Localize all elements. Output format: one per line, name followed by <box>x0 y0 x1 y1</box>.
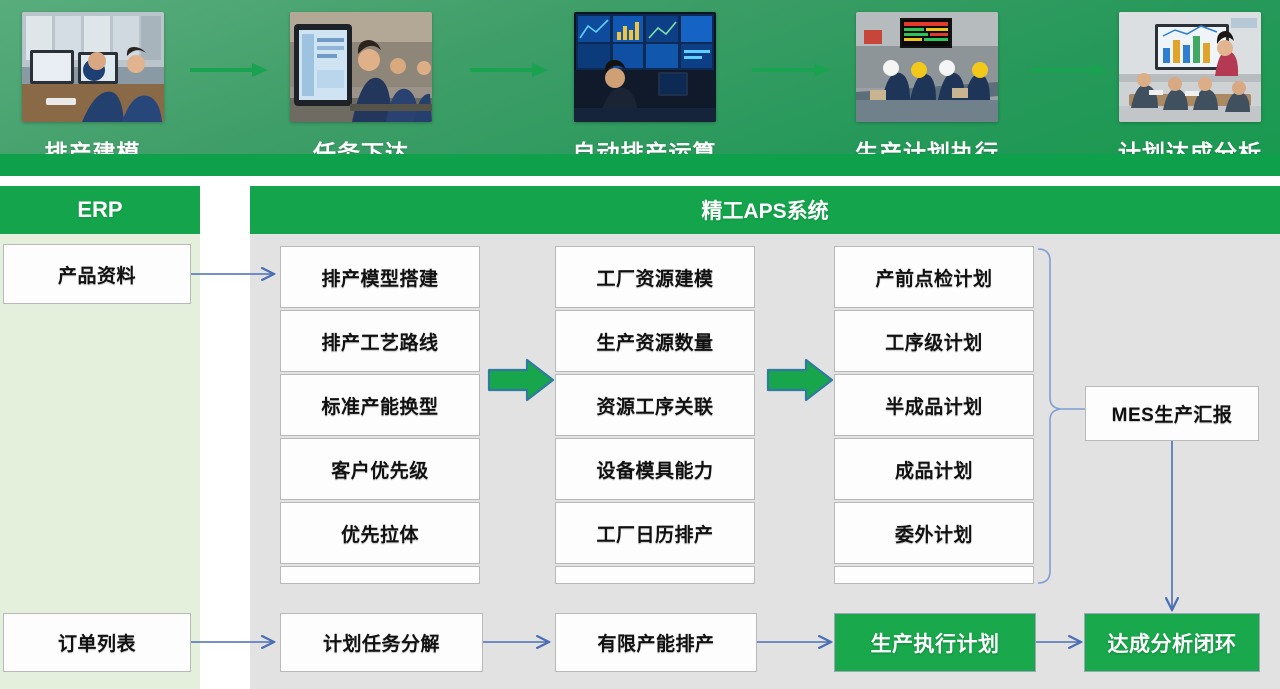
aps-col1-item-1[interactable]: 排产模型搭建 <box>280 246 480 308</box>
erp-header: ERP <box>0 186 200 234</box>
aps-header: 精工APS系统 <box>250 186 1280 234</box>
aps-col2-item-4[interactable]: 设备模具能力 <box>555 438 755 500</box>
aps-box-mes-report-label: MES生产汇报 <box>1112 400 1233 427</box>
aps-col1-item-2[interactable]: 排产工艺路线 <box>280 310 480 372</box>
aps-col1-item-5[interactable]: 优先拉体 <box>280 502 480 564</box>
meeting-room-presentation-image <box>1119 12 1261 122</box>
aps-col2-item-3[interactable]: 资源工序关联 <box>555 374 755 436</box>
aps-col2-item-1-label: 工厂资源建模 <box>596 264 713 291</box>
green-block-arrow-1 <box>487 357 555 403</box>
aps-box-execution-plan-label: 生产执行计划 <box>871 628 1000 658</box>
diagram-root: 排产建模 <box>0 0 1280 689</box>
banner-bottom-bar <box>0 154 1280 176</box>
data-dashboard-wall-image <box>574 12 716 122</box>
aps-col2-item-5-label: 工厂日历排产 <box>596 520 713 547</box>
aps-col1-item-3[interactable]: 标准产能换型 <box>280 374 480 436</box>
aps-col3-item-5[interactable]: 委外计划 <box>834 502 1034 564</box>
banner-arrow-3 <box>752 62 832 76</box>
aps-col3-item-1-label: 产前点检计划 <box>875 264 992 291</box>
aps-box-closed-loop[interactable]: 达成分析闭环 <box>1084 613 1260 672</box>
banner-stage-1[interactable]: 排产建模 <box>0 0 185 176</box>
aps-col3-item-3[interactable]: 半成品计划 <box>834 374 1034 436</box>
erp-box-product-data-label: 产品资料 <box>58 261 136 288</box>
aps-box-mes-report[interactable]: MES生产汇报 <box>1085 386 1259 441</box>
aps-col1-item-2-label: 排产工艺路线 <box>321 328 438 355</box>
banner-arrow-4 <box>1030 62 1110 76</box>
aps-col1-item-3-label: 标准产能换型 <box>321 392 438 419</box>
banner-arrow-2 <box>470 62 550 76</box>
banner-stage-4[interactable]: 生产计划执行 <box>837 0 1017 176</box>
banner-arrow-1 <box>190 62 270 76</box>
aps-col3-empty-slot <box>834 566 1034 584</box>
erp-box-order-list[interactable]: 订单列表 <box>3 613 191 672</box>
process-banner: 排产建模 <box>0 0 1280 176</box>
banner-stage-2[interactable]: 任务下达 <box>272 0 450 176</box>
aps-header-label: 精工APS系统 <box>701 195 828 225</box>
assembly-line-workers-image <box>856 12 998 122</box>
aps-col3-item-1[interactable]: 产前点检计划 <box>834 246 1034 308</box>
aps-box-finite-capacity[interactable]: 有限产能排产 <box>555 613 757 672</box>
erp-box-product-data[interactable]: 产品资料 <box>3 244 191 304</box>
aps-box-task-decompose-label: 计划任务分解 <box>323 629 440 656</box>
aps-col2-item-4-label: 设备模具能力 <box>596 456 713 483</box>
aps-box-execution-plan[interactable]: 生产执行计划 <box>834 613 1036 672</box>
aps-col1-item-4-label: 客户优先级 <box>331 456 429 483</box>
aps-box-finite-capacity-label: 有限产能排产 <box>597 629 714 656</box>
aps-column-1: 排产模型搭建 排产工艺路线 标准产能换型 客户优先级 优先拉体 <box>280 246 480 584</box>
aps-col2-item-2[interactable]: 生产资源数量 <box>555 310 755 372</box>
aps-col3-item-3-label: 半成品计划 <box>885 392 983 419</box>
aps-col1-item-5-label: 优先拉体 <box>341 520 419 547</box>
aps-col1-item-1-label: 排产模型搭建 <box>321 264 438 291</box>
green-block-arrow-2 <box>766 357 834 403</box>
factory-touchscreen-terminal-image <box>290 12 432 122</box>
aps-column-2: 工厂资源建模 生产资源数量 资源工序关联 设备模具能力 工厂日历排产 <box>555 246 755 584</box>
aps-col2-empty-slot <box>555 566 755 584</box>
banner-stage-5[interactable]: 计划达成分析 <box>1100 0 1280 176</box>
aps-col3-item-4-label: 成品计划 <box>895 456 973 483</box>
aps-col3-item-2-label: 工序级计划 <box>885 328 983 355</box>
control-room-monitors-image <box>22 12 164 122</box>
erp-box-order-list-label: 订单列表 <box>58 629 136 656</box>
erp-header-label: ERP <box>77 197 122 223</box>
aps-box-closed-loop-label: 达成分析闭环 <box>1108 628 1237 658</box>
aps-col2-item-5[interactable]: 工厂日历排产 <box>555 502 755 564</box>
aps-col1-item-4[interactable]: 客户优先级 <box>280 438 480 500</box>
aps-col2-item-3-label: 资源工序关联 <box>596 392 713 419</box>
aps-col3-item-2[interactable]: 工序级计划 <box>834 310 1034 372</box>
aps-box-task-decompose[interactable]: 计划任务分解 <box>280 613 483 672</box>
aps-column-3: 产前点检计划 工序级计划 半成品计划 成品计划 委外计划 <box>834 246 1034 584</box>
aps-col1-empty-slot <box>280 566 480 584</box>
aps-col2-item-2-label: 生产资源数量 <box>596 328 713 355</box>
banner-stage-3[interactable]: 自动排产运算 <box>552 0 737 176</box>
aps-col3-item-5-label: 委外计划 <box>895 520 973 547</box>
aps-col2-item-1[interactable]: 工厂资源建模 <box>555 246 755 308</box>
aps-col3-item-4[interactable]: 成品计划 <box>834 438 1034 500</box>
